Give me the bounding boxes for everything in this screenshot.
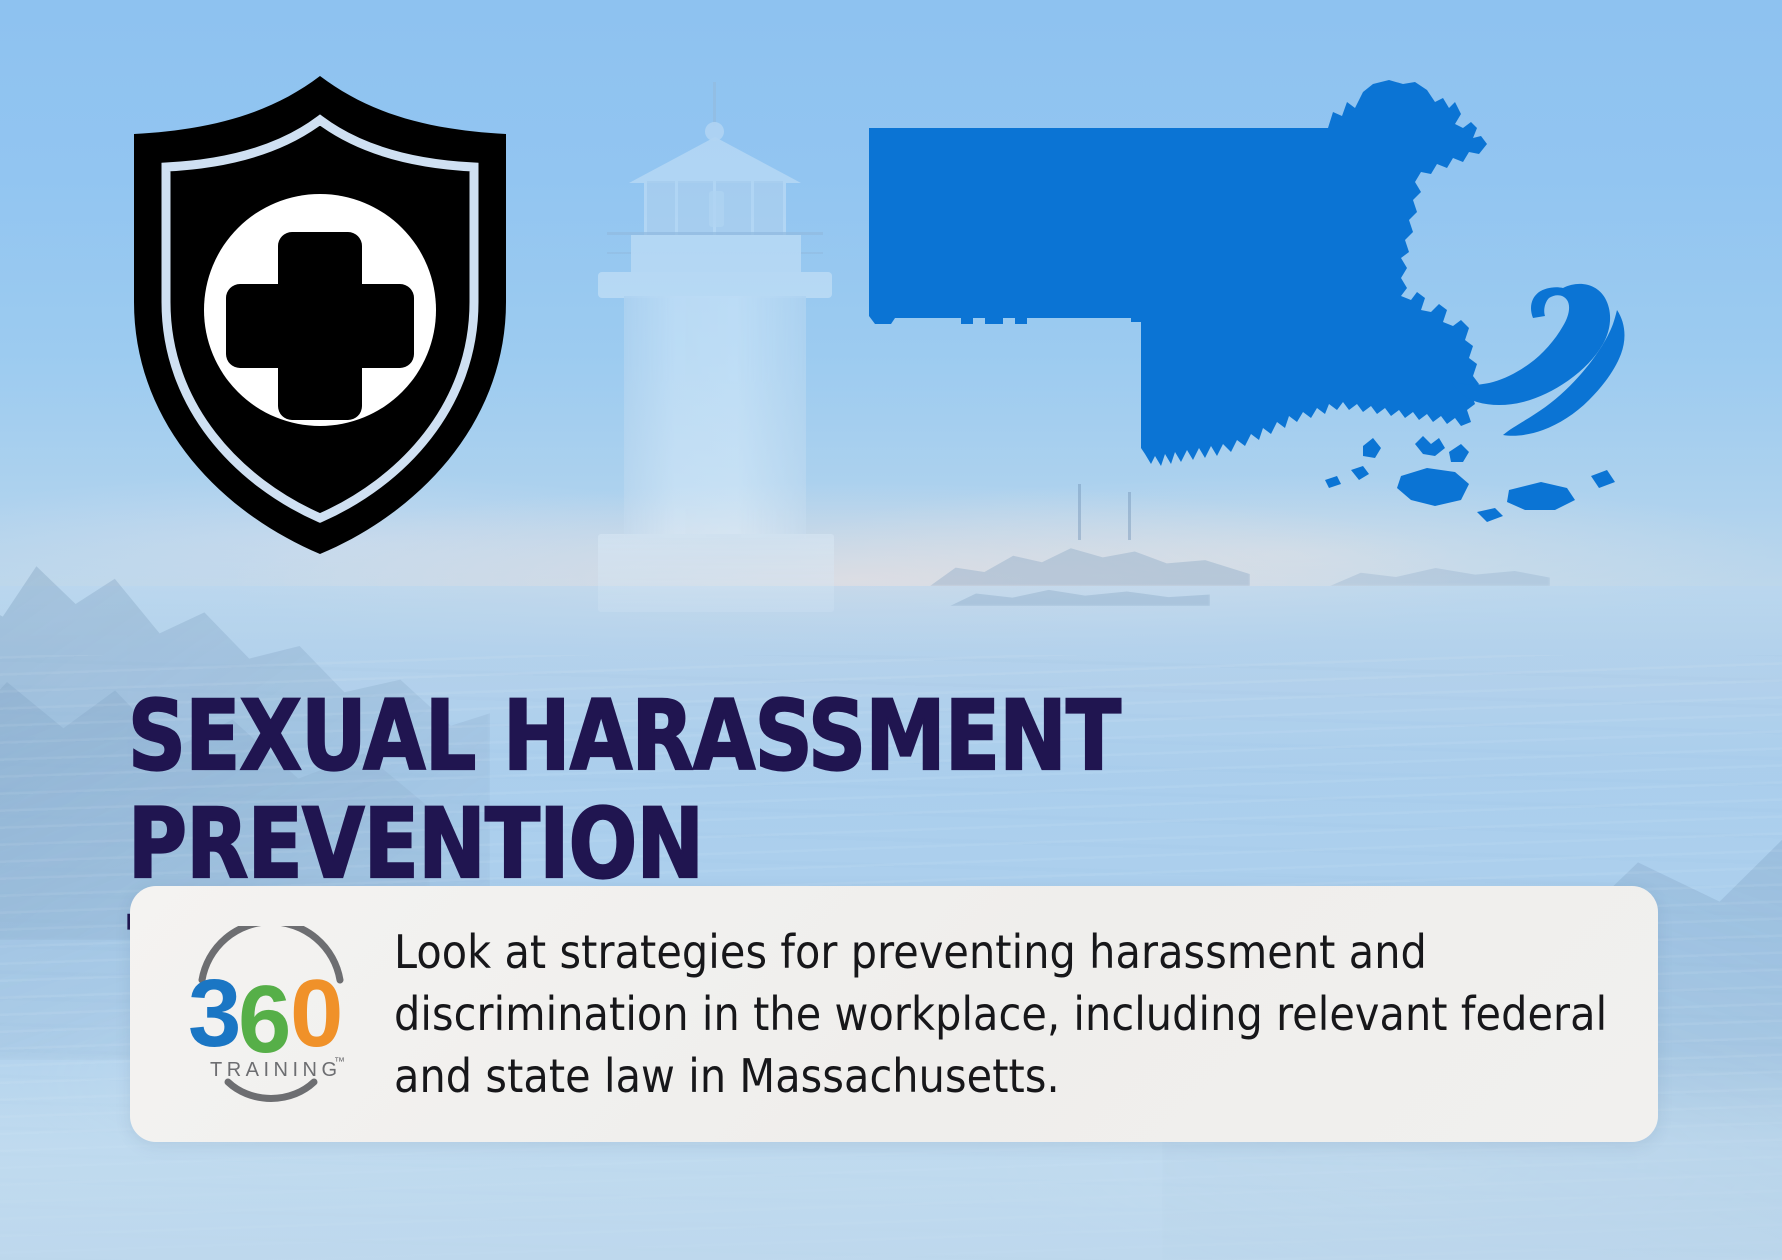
massachusetts-map-icon — [855, 72, 1675, 572]
lighthouse-base — [598, 534, 834, 612]
logo-wordmark: TRAINING — [210, 1059, 342, 1081]
lighthouse-lamp — [709, 191, 724, 227]
lighthouse-roof — [629, 137, 801, 183]
logo-digit-6: 6 — [238, 966, 291, 1073]
logo-digit-3: 3 — [188, 960, 241, 1067]
shield-medical-badge — [100, 62, 540, 562]
card-description: Look at strategies for preventing harass… — [394, 921, 1614, 1107]
360training-logo: 3 6 0 TRAINING ™ — [186, 926, 356, 1102]
lighthouse-gallery — [631, 235, 801, 275]
logo-trademark: ™ — [334, 1056, 345, 1068]
shield-medical-cross-icon — [100, 62, 540, 562]
info-card: 3 6 0 TRAINING ™ Look at strategies for … — [130, 886, 1658, 1142]
massachusetts-map — [855, 72, 1675, 572]
lighthouse-tower — [624, 296, 806, 538]
lighthouse-deck — [598, 272, 832, 298]
360training-logo-icon: 3 6 0 TRAINING ™ — [186, 926, 356, 1102]
lighthouse-spire — [713, 82, 716, 126]
poster-canvas: SEXUAL HARASSMENT PREVENTION TRAINING: M… — [0, 0, 1782, 1260]
lighthouse-graphic — [576, 82, 856, 612]
logo-digit-0: 0 — [290, 960, 343, 1067]
lantern-mullion-3 — [751, 181, 754, 237]
lighthouse-lantern-room — [644, 181, 786, 237]
lantern-mullion-1 — [675, 181, 678, 237]
